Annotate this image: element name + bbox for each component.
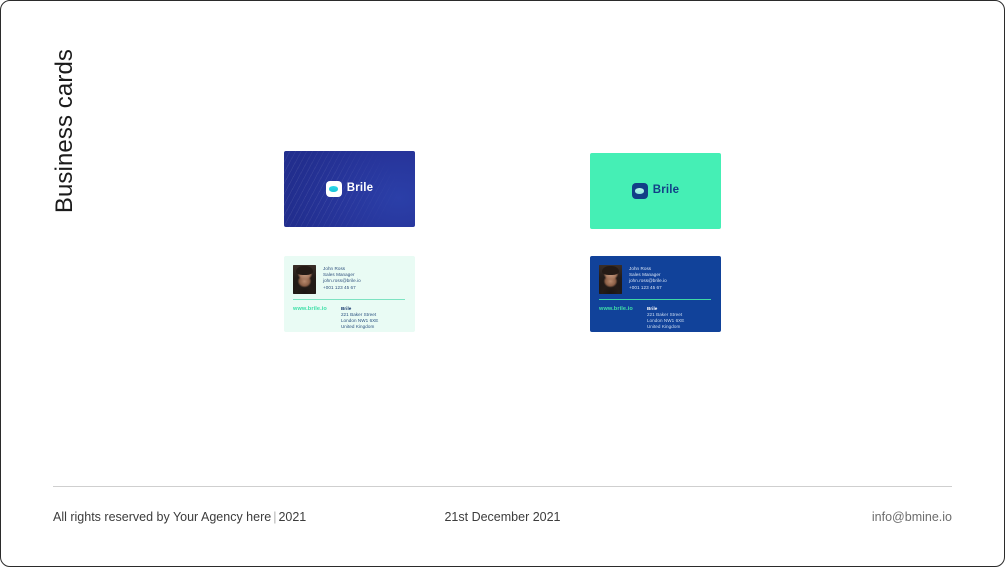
- website-link[interactable]: www.brile.io: [599, 306, 633, 313]
- contact-footer: www.brile.io Brile 221 Baker Street Lond…: [599, 306, 711, 331]
- brile-eye-icon: [632, 183, 648, 199]
- brand-logo-dark: Brile: [326, 181, 374, 197]
- business-card-logo-dark[interactable]: Brile: [284, 151, 415, 227]
- website-link[interactable]: www.brile.io: [293, 306, 327, 313]
- contact-details: John Ross Sales Manager john.ross@brile.…: [629, 265, 667, 291]
- business-card-logo-green[interactable]: Brile: [590, 153, 721, 229]
- contact-phone: +001 123 45 67: [323, 285, 361, 291]
- contact-header: John Ross Sales Manager john.ross@brile.…: [599, 265, 711, 294]
- divider: [293, 299, 405, 300]
- address-country: United Kingdom: [647, 324, 684, 330]
- page-title: Business cards: [53, 43, 89, 213]
- brand-wordmark: Brile: [653, 185, 680, 197]
- contact-footer: www.brile.io Brile 221 Baker Street Lond…: [293, 306, 405, 331]
- eye-shape: [329, 186, 338, 192]
- slide-canvas: Business cards Brile Brile Joh: [0, 0, 1005, 567]
- brand-logo-green: Brile: [632, 183, 680, 199]
- business-card-contact-dark[interactable]: John Ross Sales Manager john.ross@brile.…: [590, 256, 721, 332]
- contact-phone: +001 123 45 67: [629, 285, 667, 291]
- address-block: Brile 221 Baker Street London NW1 6XE Un…: [341, 306, 378, 331]
- footer-copyright-text: All rights reserved by Your Agency here: [53, 510, 271, 524]
- contact-details: John Ross Sales Manager john.ross@brile.…: [323, 265, 361, 291]
- brile-eye-icon: [326, 181, 342, 197]
- footer: All rights reserved by Your Agency here|…: [53, 506, 952, 528]
- avatar: [293, 265, 316, 294]
- divider: [599, 299, 711, 300]
- contact-email: john.ross@brile.io: [629, 278, 667, 284]
- footer-year: 2021: [278, 510, 306, 524]
- eye-shape: [635, 188, 644, 194]
- footer-email[interactable]: info@bmine.io: [872, 510, 952, 524]
- business-card-contact-light[interactable]: John Ross Sales Manager john.ross@brile.…: [284, 256, 415, 332]
- avatar-hair: [296, 266, 313, 276]
- avatar-hair: [602, 266, 619, 276]
- page-title-text: Business cards: [53, 49, 77, 213]
- contact-email: john.ross@brile.io: [323, 278, 361, 284]
- brand-wordmark: Brile: [347, 183, 374, 195]
- footer-copyright: All rights reserved by Your Agency here|…: [53, 510, 306, 524]
- footer-divider: [53, 486, 952, 487]
- contact-header: John Ross Sales Manager john.ross@brile.…: [293, 265, 405, 294]
- address-country: United Kingdom: [341, 324, 378, 330]
- avatar: [599, 265, 622, 294]
- address-block: Brile 221 Baker Street London NW1 6XE Un…: [647, 306, 684, 331]
